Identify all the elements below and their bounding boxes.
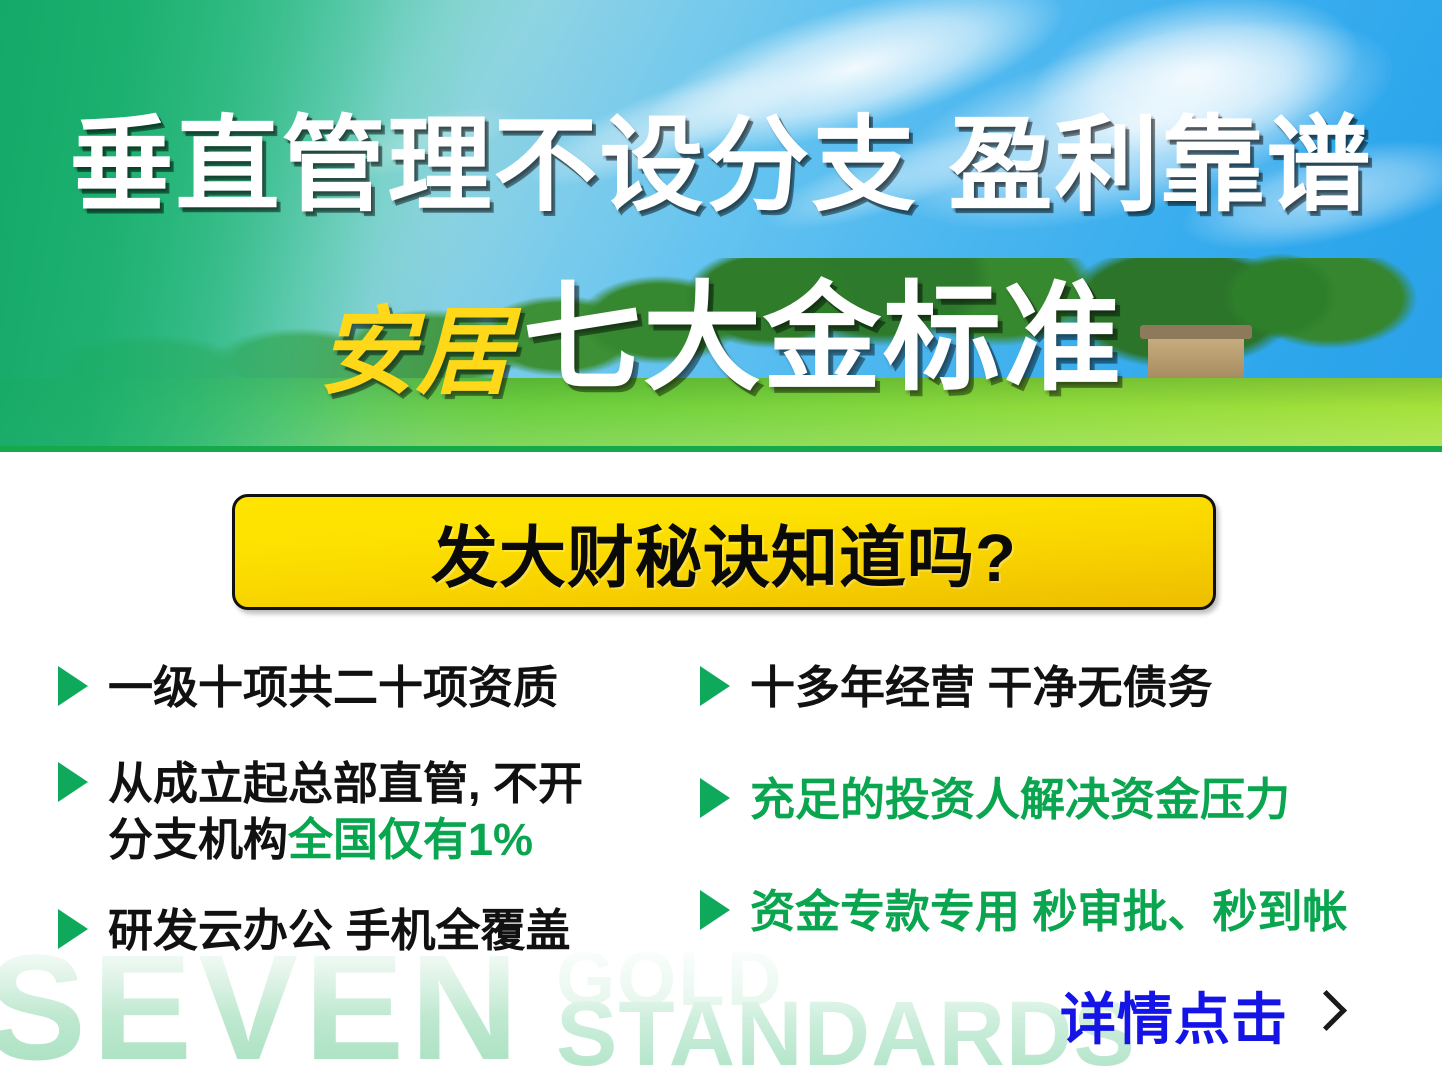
- triangle-bullet-icon: [700, 666, 730, 706]
- feature-text: 研发云办公 手机全覆盖: [108, 903, 571, 959]
- triangle-bullet-icon: [58, 666, 88, 706]
- hero-headline-main: 七大金标准: [523, 273, 1123, 405]
- list-item: 资金专款专用 秒审批、秒到帐: [700, 884, 1400, 940]
- feature-text-line2: 分支机构全国仅有1%: [108, 812, 583, 868]
- chevron-right-icon: [1310, 992, 1338, 1040]
- list-item: 十多年经营 干净无债务: [700, 660, 1400, 716]
- list-item: 一级十项共二十项资质: [58, 660, 698, 716]
- advertisement-banner: 垂直管理不设分支 盈利靠谱 安居七大金标准 发大财秘诀知道吗? 一级十项共二十项…: [0, 0, 1442, 1066]
- hero-headline-primary: 垂直管理不设分支 盈利靠谱: [0, 112, 1442, 221]
- details-link[interactable]: 详情点击: [1060, 975, 1338, 1056]
- feature-text-highlight: 全国仅有1%: [288, 814, 533, 865]
- feature-text: 十多年经营 干净无债务: [750, 660, 1213, 716]
- hero-section: 垂直管理不设分支 盈利靠谱 安居七大金标准: [0, 0, 1442, 452]
- watermark-standards: STANDARDS: [556, 988, 1136, 1066]
- hero-green-band: [0, 446, 1442, 452]
- triangle-bullet-icon: [700, 778, 730, 818]
- feature-text: 从成立起总部直管, 不开 分支机构全国仅有1%: [108, 756, 583, 868]
- feature-text: 一级十项共二十项资质: [108, 660, 558, 716]
- triangle-bullet-icon: [58, 909, 88, 949]
- features-column-right: 十多年经营 干净无债务 充足的投资人解决资金压力 资金专款专用 秒审批、秒到帐: [700, 660, 1400, 973]
- triangle-bullet-icon: [700, 890, 730, 930]
- hero-headline-accent: 安居: [319, 303, 513, 404]
- list-item: 从成立起总部直管, 不开 分支机构全国仅有1%: [58, 756, 698, 868]
- feature-text: 充足的投资人解决资金压力: [750, 772, 1290, 828]
- question-banner[interactable]: 发大财秘诀知道吗?: [232, 494, 1216, 610]
- features-column-left: 一级十项共二十项资质 从成立起总部直管, 不开 分支机构全国仅有1% 研发云办公…: [58, 660, 698, 993]
- triangle-bullet-icon: [58, 762, 88, 802]
- feature-text-line1: 从成立起总部直管, 不开: [108, 758, 583, 809]
- question-banner-label: 发大财秘诀知道吗?: [431, 504, 1017, 601]
- list-item: 研发云办公 手机全覆盖: [58, 903, 698, 959]
- features-section: 一级十项共二十项资质 从成立起总部直管, 不开 分支机构全国仅有1% 研发云办公…: [0, 660, 1442, 990]
- feature-text: 资金专款专用 秒审批、秒到帐: [750, 884, 1348, 940]
- list-item: 充足的投资人解决资金压力: [700, 772, 1400, 828]
- feature-text-plain: 分支机构: [108, 814, 288, 865]
- hero-headline-secondary: 安居七大金标准: [0, 278, 1442, 402]
- details-link-label: 详情点击: [1060, 975, 1288, 1056]
